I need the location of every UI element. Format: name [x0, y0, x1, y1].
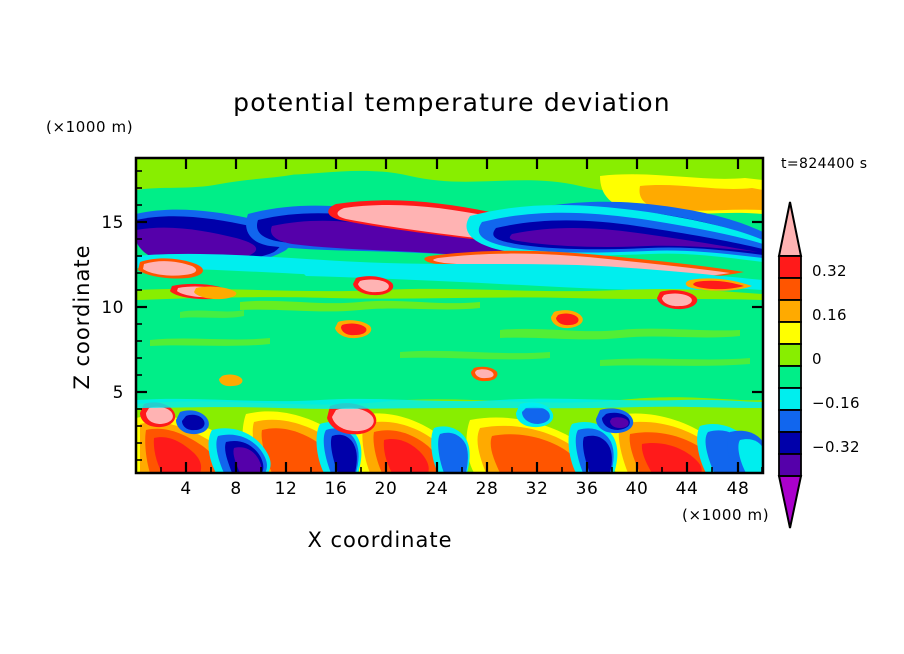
y-tick-label: 5 [84, 383, 124, 403]
x-tick-label: 16 [316, 479, 356, 499]
colorbar-tick-label: 0 [812, 350, 822, 368]
x-tick-label: 48 [718, 479, 758, 499]
x-tick-label: 36 [567, 479, 607, 499]
colorbar-under-cap [779, 476, 801, 528]
y-tick-label: 10 [84, 298, 124, 318]
contour-plot-svg [0, 0, 904, 654]
plot-canvas: potential temperature deviation (×1000 m… [0, 0, 904, 654]
colorbar-tick-label: 0.32 [812, 262, 847, 280]
x-tick-label: 20 [366, 479, 406, 499]
x-tick-label: 44 [667, 479, 707, 499]
x-tick-label: 28 [467, 479, 507, 499]
y-tick-label: 15 [84, 213, 124, 233]
x-tick-label: 8 [216, 479, 256, 499]
contour-field [136, 158, 763, 473]
colorbar-tick-label: 0.16 [812, 306, 847, 324]
colorbar-over-cap [779, 202, 801, 256]
x-tick-label: 24 [417, 479, 457, 499]
colorbar-tick-label: −0.32 [812, 438, 860, 456]
x-tick-label: 4 [166, 479, 206, 499]
x-tick-label: 32 [517, 479, 557, 499]
colorbar-tick-label: −0.16 [812, 394, 860, 412]
colorbar [779, 202, 801, 528]
x-tick-label: 40 [617, 479, 657, 499]
x-tick-label: 12 [266, 479, 306, 499]
